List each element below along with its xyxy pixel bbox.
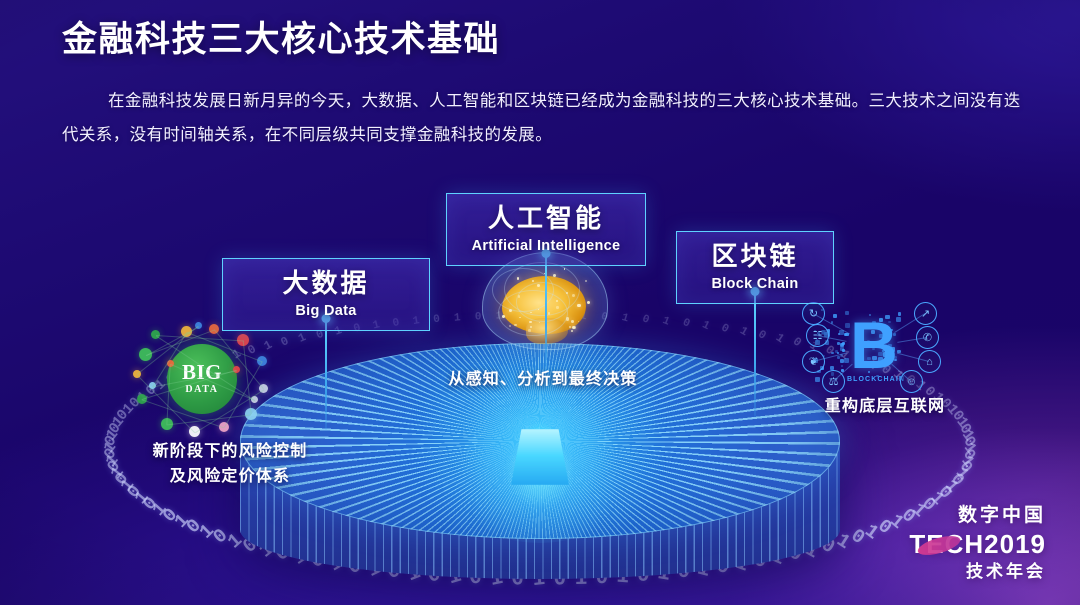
big-data-link-line bbox=[242, 341, 251, 415]
blockchain-pixel bbox=[841, 365, 843, 367]
blockchain-pixel bbox=[871, 330, 875, 334]
caption-big-data-line1: 新阶段下的风险控制 bbox=[100, 440, 360, 465]
blockchain-pixel bbox=[896, 317, 901, 322]
blockchain-pixel bbox=[845, 311, 849, 315]
blockchain-pixel bbox=[894, 359, 896, 361]
blockchain-pixel bbox=[867, 357, 871, 361]
blockchain-pixel bbox=[875, 345, 878, 348]
brain-fold-line bbox=[498, 290, 568, 336]
blockchain-pixel bbox=[835, 350, 839, 354]
connector-stem-blockchain bbox=[754, 291, 756, 417]
home-icon: ⌂ bbox=[918, 350, 941, 373]
blockchain-pixel bbox=[879, 334, 884, 339]
blockchain-icon-cluster: B BLOCKCHAIN ↻☷❦⚖↗✆⌂☺ bbox=[796, 300, 948, 400]
blockchain-pixel bbox=[872, 356, 877, 361]
blockchain-pixel bbox=[872, 321, 876, 325]
brain-neuron-spark bbox=[572, 326, 575, 329]
blockchain-pixel bbox=[833, 314, 837, 318]
logo-line-tech2019: TECH2019 bbox=[909, 529, 1046, 560]
blockchain-pixel bbox=[831, 352, 833, 354]
big-data-network-graphic: BIG DATA bbox=[133, 322, 273, 437]
blockchain-pixel bbox=[844, 358, 849, 363]
brain-neuron-spark bbox=[587, 301, 590, 304]
blockchain-pixel bbox=[879, 318, 883, 322]
logo-line-digital-china: 数字中国 bbox=[909, 504, 1046, 528]
card-ai-title-cn: 人工智能 bbox=[469, 203, 623, 235]
blockchain-pixel bbox=[890, 347, 895, 352]
blockchain-pixel bbox=[840, 347, 844, 351]
brain-neuron-spark bbox=[571, 320, 574, 323]
blockchain-pixel bbox=[837, 342, 840, 345]
brain-neuron-spark bbox=[577, 304, 580, 307]
caption-blockchain: 重构底层互联网 bbox=[790, 392, 980, 416]
blockchain-pixel bbox=[898, 312, 902, 316]
header: 金融科技三大核心技术基础 在金融科技发展日新月异的今天，大数据、人工智能和区块链… bbox=[0, 0, 1080, 153]
card-artificial-intelligence[interactable]: 人工智能 Artificial Intelligence bbox=[446, 193, 646, 266]
caption-ai: 从感知、分析到最终决策 bbox=[418, 365, 668, 389]
slide-canvas: 0101010101010101010101010101010101010101… bbox=[0, 0, 1080, 605]
blockchain-pixel bbox=[838, 333, 841, 336]
card-big-data-title-en: Big Data bbox=[245, 303, 407, 319]
logo-line-annual-conference: 技术年会 bbox=[909, 561, 1046, 583]
caption-big-data: 新阶段下的风险控制 及风险定价体系 bbox=[100, 440, 360, 490]
body-paragraph: 在金融科技发展日新月异的今天，大数据、人工智能和区块链已经成为金融科技的三大核心… bbox=[62, 84, 1024, 153]
blockchain-pixel bbox=[883, 352, 888, 357]
blockchain-pixel bbox=[815, 377, 820, 382]
event-logo: 数字中国 TECH2019 技术年会 bbox=[909, 504, 1046, 583]
connector-stem-ai bbox=[545, 253, 547, 375]
blockchain-pixel bbox=[869, 314, 871, 316]
card-big-data[interactable]: 大数据 Big Data bbox=[222, 258, 430, 331]
blockchain-pixel bbox=[845, 323, 850, 328]
caption-big-data-line2: 及风险定价体系 bbox=[100, 465, 360, 490]
blockchain-pixel bbox=[885, 315, 890, 320]
connector-stem-big-data bbox=[325, 318, 327, 430]
card-block-chain[interactable]: 区块链 Block Chain bbox=[676, 231, 834, 304]
blockchain-pixel bbox=[890, 329, 893, 332]
blockchain-pixel bbox=[842, 342, 845, 345]
blockchain-pixel bbox=[883, 359, 887, 363]
blockchain-pixel bbox=[878, 352, 883, 357]
big-data-badge-line2: DATA bbox=[185, 384, 218, 395]
brain-neuron-spark bbox=[569, 326, 571, 328]
card-ai-title-en: Artificial Intelligence bbox=[469, 238, 623, 254]
card-big-data-title-cn: 大数据 bbox=[245, 268, 407, 300]
card-block-chain-title-cn: 区块链 bbox=[699, 241, 811, 273]
card-block-chain-title-en: Block Chain bbox=[699, 276, 811, 292]
page-title: 金融科技三大核心技术基础 bbox=[62, 18, 1040, 62]
